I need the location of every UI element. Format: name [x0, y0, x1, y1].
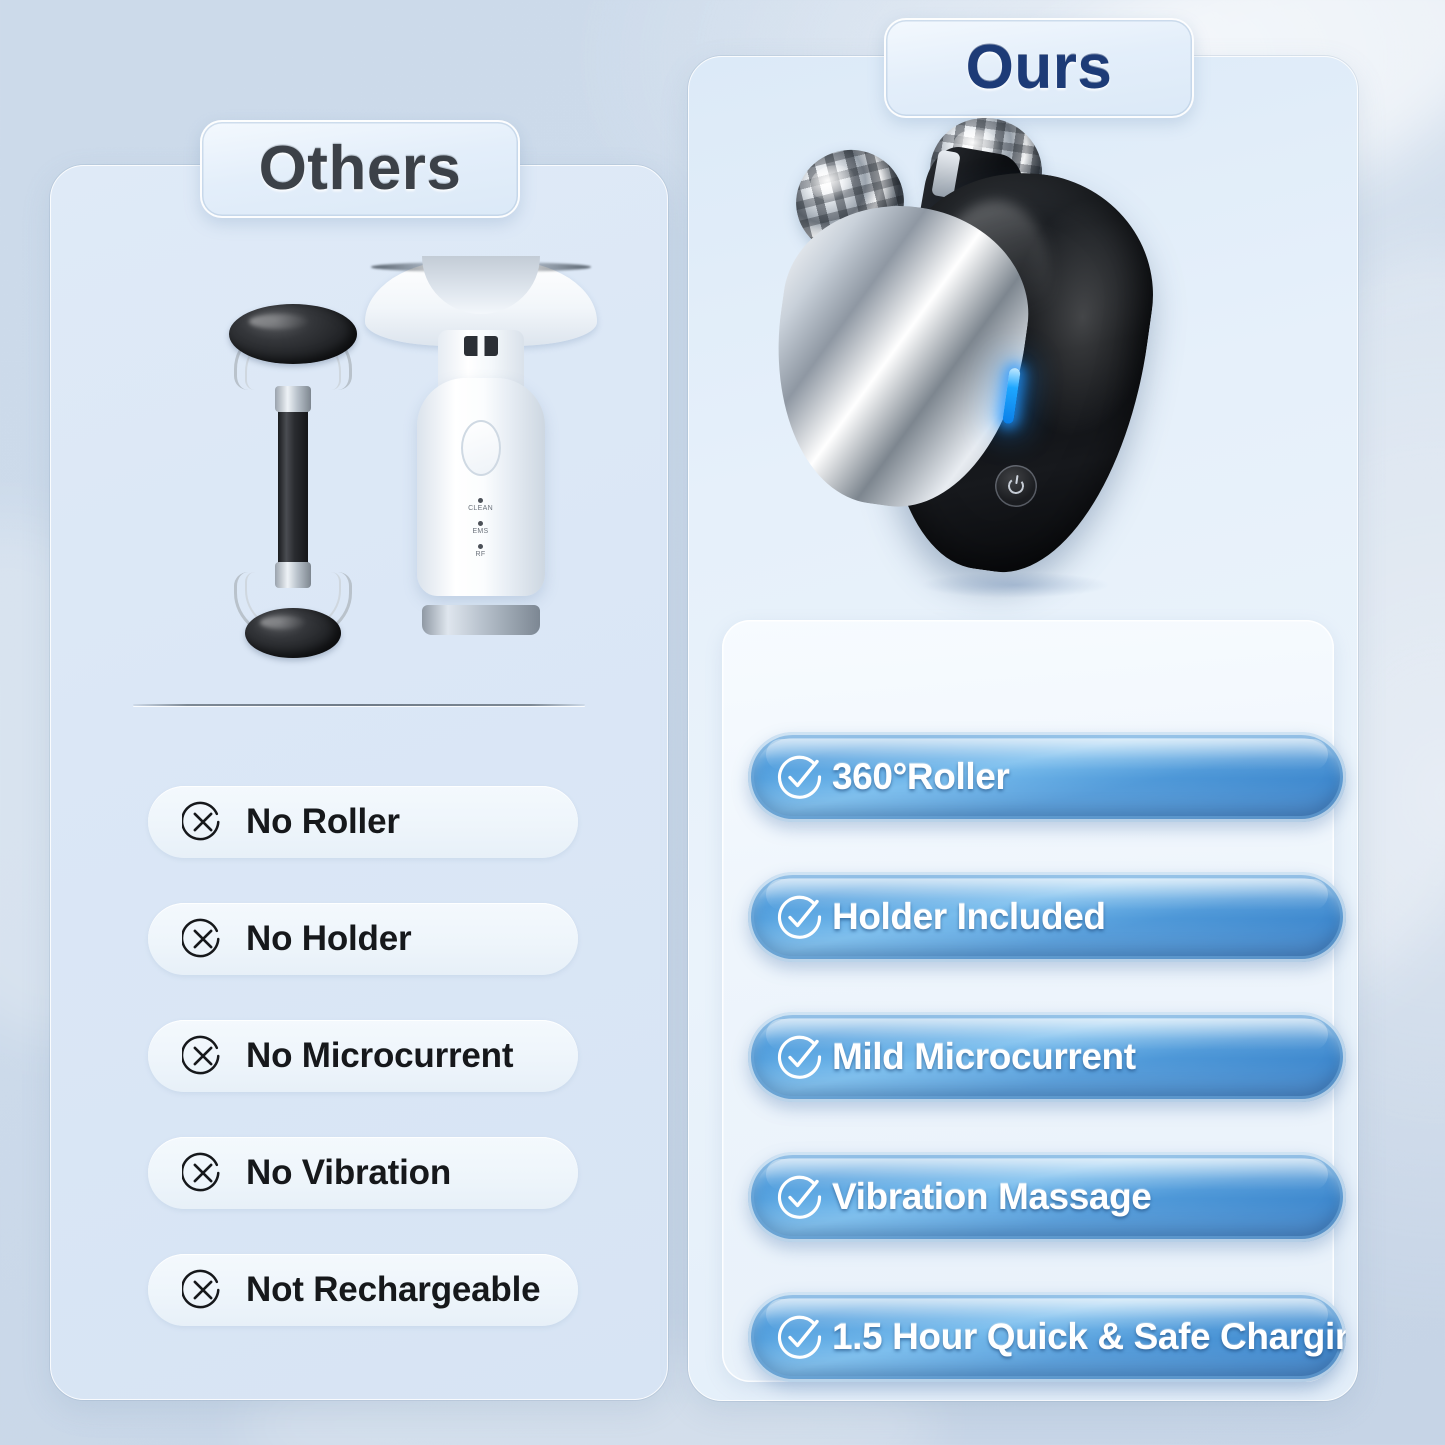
- ours-feature-item: Mild Microcurrent: [748, 1012, 1346, 1102]
- others-feature-item: No Microcurrent: [148, 1020, 578, 1092]
- neck-device-base: [422, 605, 540, 635]
- circle-x-icon: [182, 801, 224, 843]
- circle-x-icon: [182, 918, 224, 960]
- circle-x-icon: [182, 1035, 224, 1077]
- ours-feature-label: 1.5 Hour Quick & Safe Charging: [832, 1316, 1346, 1358]
- neck-device-led-label-ems: EMS: [446, 528, 516, 535]
- neck-device-vent: [464, 336, 498, 356]
- others-divider: [133, 704, 585, 706]
- chrome-roller-ball-left: [785, 138, 915, 265]
- ours-feature-item: Holder Included: [748, 872, 1346, 962]
- others-badge-label: Others: [259, 138, 462, 200]
- circle-check-icon: [776, 1173, 824, 1221]
- circle-x-icon: [182, 1269, 224, 1311]
- ours-feature-label: Holder Included: [832, 896, 1106, 938]
- circle-check-icon: [776, 1313, 824, 1361]
- others-feature-label: No Microcurrent: [246, 1036, 513, 1076]
- ours-feature-item: 1.5 Hour Quick & Safe Charging: [748, 1292, 1346, 1382]
- circle-check-icon: [776, 893, 824, 941]
- ours-feature-item: Vibration Massage: [748, 1152, 1346, 1242]
- neck-device-led-label-rf: RF: [446, 551, 516, 558]
- others-feature-item: Not Rechargeable: [148, 1254, 578, 1326]
- others-feature-label: No Holder: [246, 919, 411, 959]
- others-feature-list: No Roller No Holder No Microcurrent No V…: [148, 786, 578, 1371]
- ours-badge-label: Ours: [966, 37, 1113, 99]
- circle-check-icon: [776, 1033, 824, 1081]
- ours-feature-label: Mild Microcurrent: [832, 1036, 1136, 1078]
- circle-check-icon: [776, 753, 824, 801]
- jade-face-roller-image: [218, 290, 368, 660]
- roller-stone-small: [245, 608, 341, 658]
- roller-handle: [278, 394, 308, 584]
- neck-beauty-device-image: CLEAN EMS RF: [373, 260, 588, 635]
- ours-feature-item: 360°Roller: [748, 732, 1346, 822]
- roller-collar-top: [275, 386, 311, 412]
- neck-device-mode-indicators: CLEAN EMS RF: [446, 498, 516, 567]
- others-feature-label: No Vibration: [246, 1153, 451, 1193]
- roller-collar-bottom: [275, 562, 311, 588]
- others-feature-item: No Vibration: [148, 1137, 578, 1209]
- ours-feature-label: 360°Roller: [832, 756, 1009, 798]
- ours-feature-label: Vibration Massage: [832, 1176, 1151, 1218]
- ours-product-image: [770, 110, 1210, 620]
- circle-x-icon: [182, 1152, 224, 1194]
- others-badge: Others: [200, 120, 520, 218]
- others-feature-item: No Holder: [148, 903, 578, 975]
- neck-device-power-button: [461, 420, 501, 476]
- others-feature-label: No Roller: [246, 802, 400, 842]
- roller-stone-large: [229, 304, 357, 364]
- ours-badge: Ours: [884, 18, 1194, 118]
- ours-feature-list: 360°Roller Holder Included Mild Microcur…: [748, 732, 1346, 1432]
- neck-device-led-label-clean: CLEAN: [446, 505, 516, 512]
- device-shadow: [920, 572, 1110, 598]
- others-feature-item: No Roller: [148, 786, 578, 858]
- others-feature-label: Not Rechargeable: [246, 1270, 540, 1310]
- others-product-images: CLEAN EMS RF: [68, 260, 648, 670]
